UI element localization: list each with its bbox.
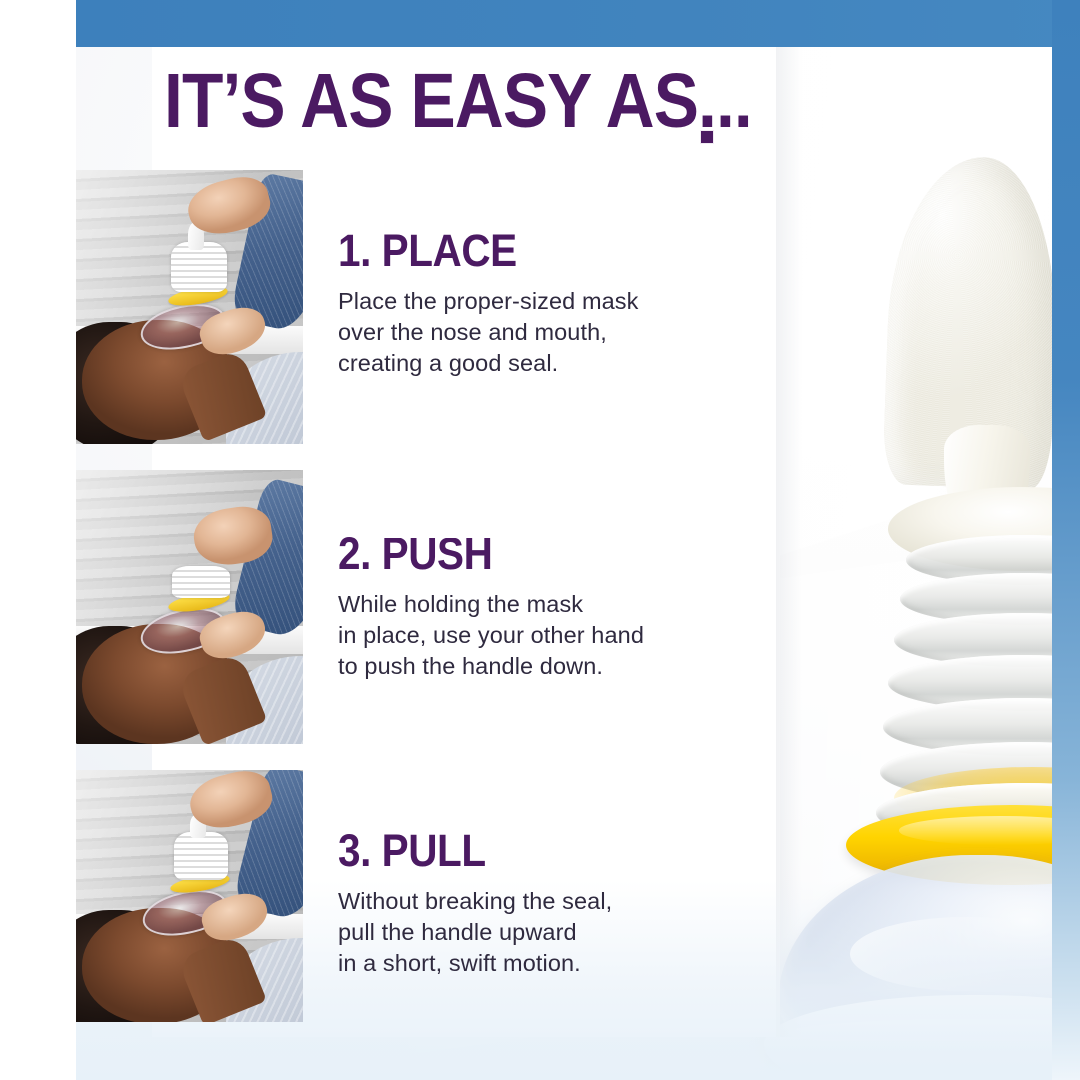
step-photo-1 <box>76 170 303 444</box>
step-photo-3 <box>76 770 303 1022</box>
frame-blue-right-band <box>1052 0 1080 1080</box>
step-3-title: 3. PULL <box>338 828 585 873</box>
page-title: IT’S AS EASY AS... <box>164 63 752 140</box>
slide-canvas: IT’S AS EASY AS... <box>0 0 1080 1080</box>
step-block-1: 1. PLACE Place the proper-sized mask ove… <box>338 228 639 379</box>
product-hero-image <box>692 95 1052 1080</box>
purple-square-marker <box>700 130 714 144</box>
step-block-2: 2. PUSH While holding the mask in place,… <box>338 531 644 682</box>
step-photo-2 <box>76 470 303 744</box>
product-bellows <box>880 535 1052 835</box>
frame-white-left-margin <box>0 0 76 1080</box>
step-block-3: 3. PULL Without breaking the seal, pull … <box>338 828 612 979</box>
step-2-body: While holding the mask in place, use you… <box>338 589 644 682</box>
step-3-body: Without breaking the seal, pull the hand… <box>338 886 612 979</box>
frame-blue-top-band <box>76 0 1080 47</box>
photo-device-bellows-3 <box>174 832 228 880</box>
photo-device-bellows-2 <box>172 566 230 598</box>
white-occluding-rectangle <box>378 377 702 538</box>
step-1-title: 1. PLACE <box>338 228 608 273</box>
step-1-body: Place the proper-sized mask over the nos… <box>338 286 639 379</box>
product-drop-shadow <box>732 1070 1052 1080</box>
